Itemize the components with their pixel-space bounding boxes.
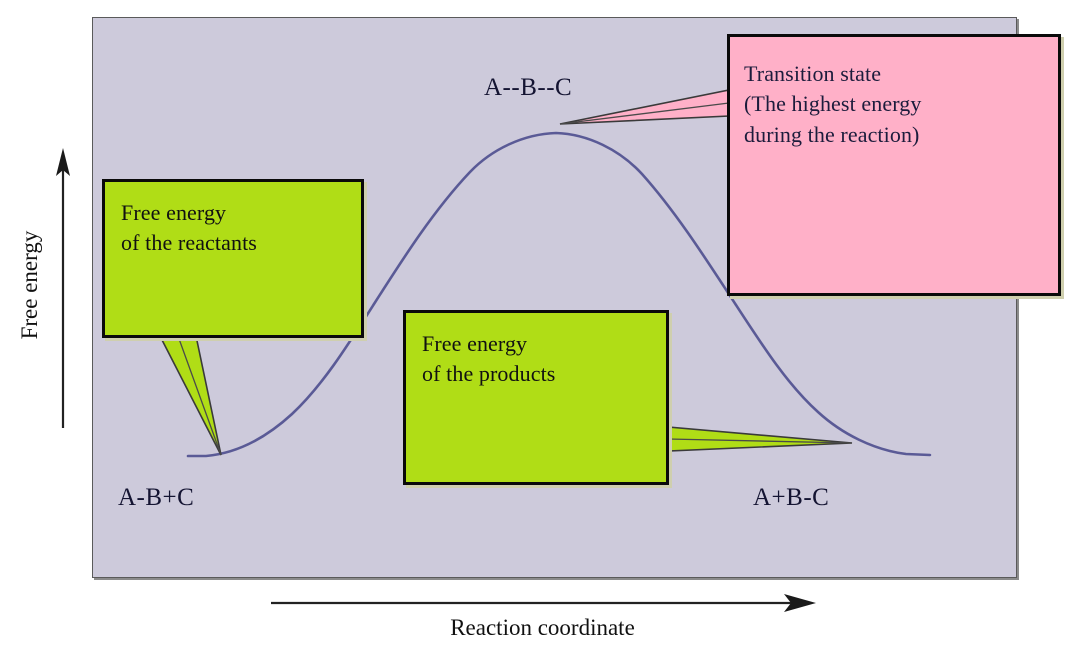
- callout-products-line-2: of the products: [422, 359, 666, 389]
- callout-products-line-1: Free energy: [422, 329, 666, 359]
- species-label-transition-state: A--B--C: [484, 74, 572, 102]
- species-label-products: A+B-C: [753, 484, 829, 512]
- callout-reactants-line-1: Free energy: [121, 198, 361, 228]
- x-axis-arrow: [271, 594, 816, 612]
- callout-box-transition-state[interactable]: Transition state (The highest energy dur…: [727, 34, 1061, 296]
- callout-box-reactants[interactable]: Free energy of the reactants: [102, 179, 364, 338]
- species-label-reactants: A-B+C: [118, 484, 194, 512]
- y-axis-arrow: [56, 148, 70, 428]
- callout-transition-line-2: (The highest energy: [744, 89, 1058, 119]
- callout-reactants-line-2: of the reactants: [121, 228, 361, 258]
- callout-box-products[interactable]: Free energy of the products: [403, 310, 669, 485]
- figure-root: Free energy of the reactants Free energy…: [0, 0, 1080, 659]
- callout-transition-line-1: Transition state: [744, 59, 1058, 89]
- y-axis-title: Free energy: [17, 200, 43, 370]
- callout-transition-line-3: during the reaction): [744, 120, 1058, 150]
- x-axis-title: Reaction coordinate: [270, 615, 815, 641]
